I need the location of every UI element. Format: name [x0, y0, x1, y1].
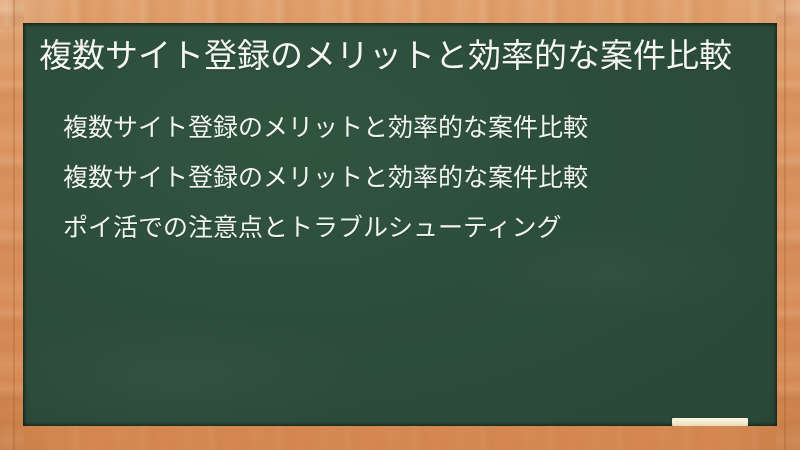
chalk-stick-icon: [672, 418, 748, 426]
frame-grain-bottom: [0, 424, 800, 450]
chalkboard: 複数サイト登録のメリットと効率的な案件比較 複数サイト登録のメリットと効率的な案…: [23, 23, 777, 426]
chalkboard-slide: 複数サイト登録のメリットと効率的な案件比較 複数サイト登録のメリットと効率的な案…: [0, 0, 800, 450]
frame-grain-left: [0, 0, 24, 450]
list-item: 複数サイト登録のメリットと効率的な案件比較: [63, 153, 757, 203]
slide-title: 複数サイト登録のメリットと効率的な案件比較: [39, 31, 749, 77]
chalkboard-content: 複数サイト登録のメリットと効率的な案件比較 複数サイト登録のメリットと効率的な案…: [23, 23, 777, 426]
frame-grain-right: [776, 0, 800, 450]
frame-seam-left: [13, 0, 15, 450]
list-item: 複数サイト登録のメリットと効率的な案件比較: [63, 103, 757, 153]
frame-seam-right: [784, 0, 786, 450]
list-item: ポイ活での注意点とトラブルシューティング: [63, 203, 757, 253]
topic-list: 複数サイト登録のメリットと効率的な案件比較 複数サイト登録のメリットと効率的な案…: [39, 103, 757, 253]
